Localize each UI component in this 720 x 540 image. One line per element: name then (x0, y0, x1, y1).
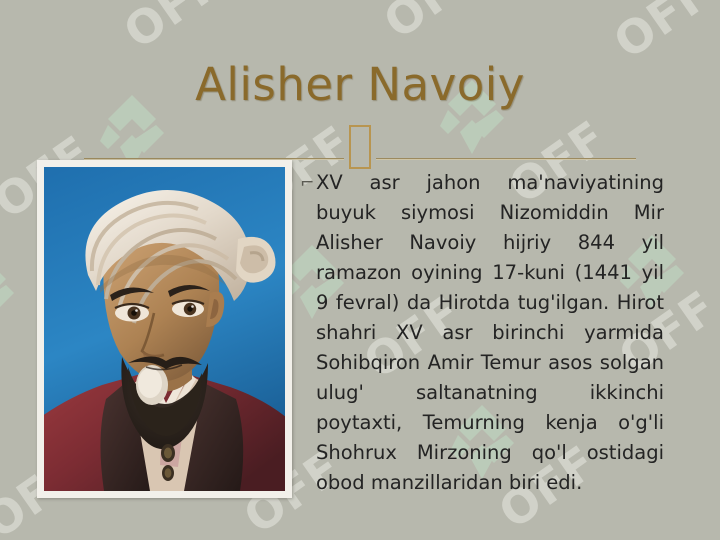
slide-title: Alisher Navoiy (60, 58, 660, 111)
divider-box-glyph-icon (349, 125, 371, 169)
angular-chevron-logo-icon (0, 0, 19, 9)
portrait-illustration (44, 167, 285, 491)
presentation-slide: OFF OFF OFF OFF OFF OFF OFF OFF OFF OFF … (0, 0, 720, 540)
angular-chevron-logo-icon (0, 255, 14, 329)
watermark-word: OFF (374, 0, 491, 49)
body-paragraph: XV asr jahon ma'naviyatining buyuk siymo… (316, 168, 664, 498)
body-text-block: ⌐ XV asr jahon ma'naviyatining buyuk siy… (300, 168, 664, 498)
watermark-word: OFF (114, 0, 231, 59)
bullet-marker-icon: ⌐ (300, 168, 316, 198)
divider-rule-right (376, 158, 636, 160)
portrait-image-frame (37, 160, 292, 498)
portrait-image (44, 167, 285, 491)
